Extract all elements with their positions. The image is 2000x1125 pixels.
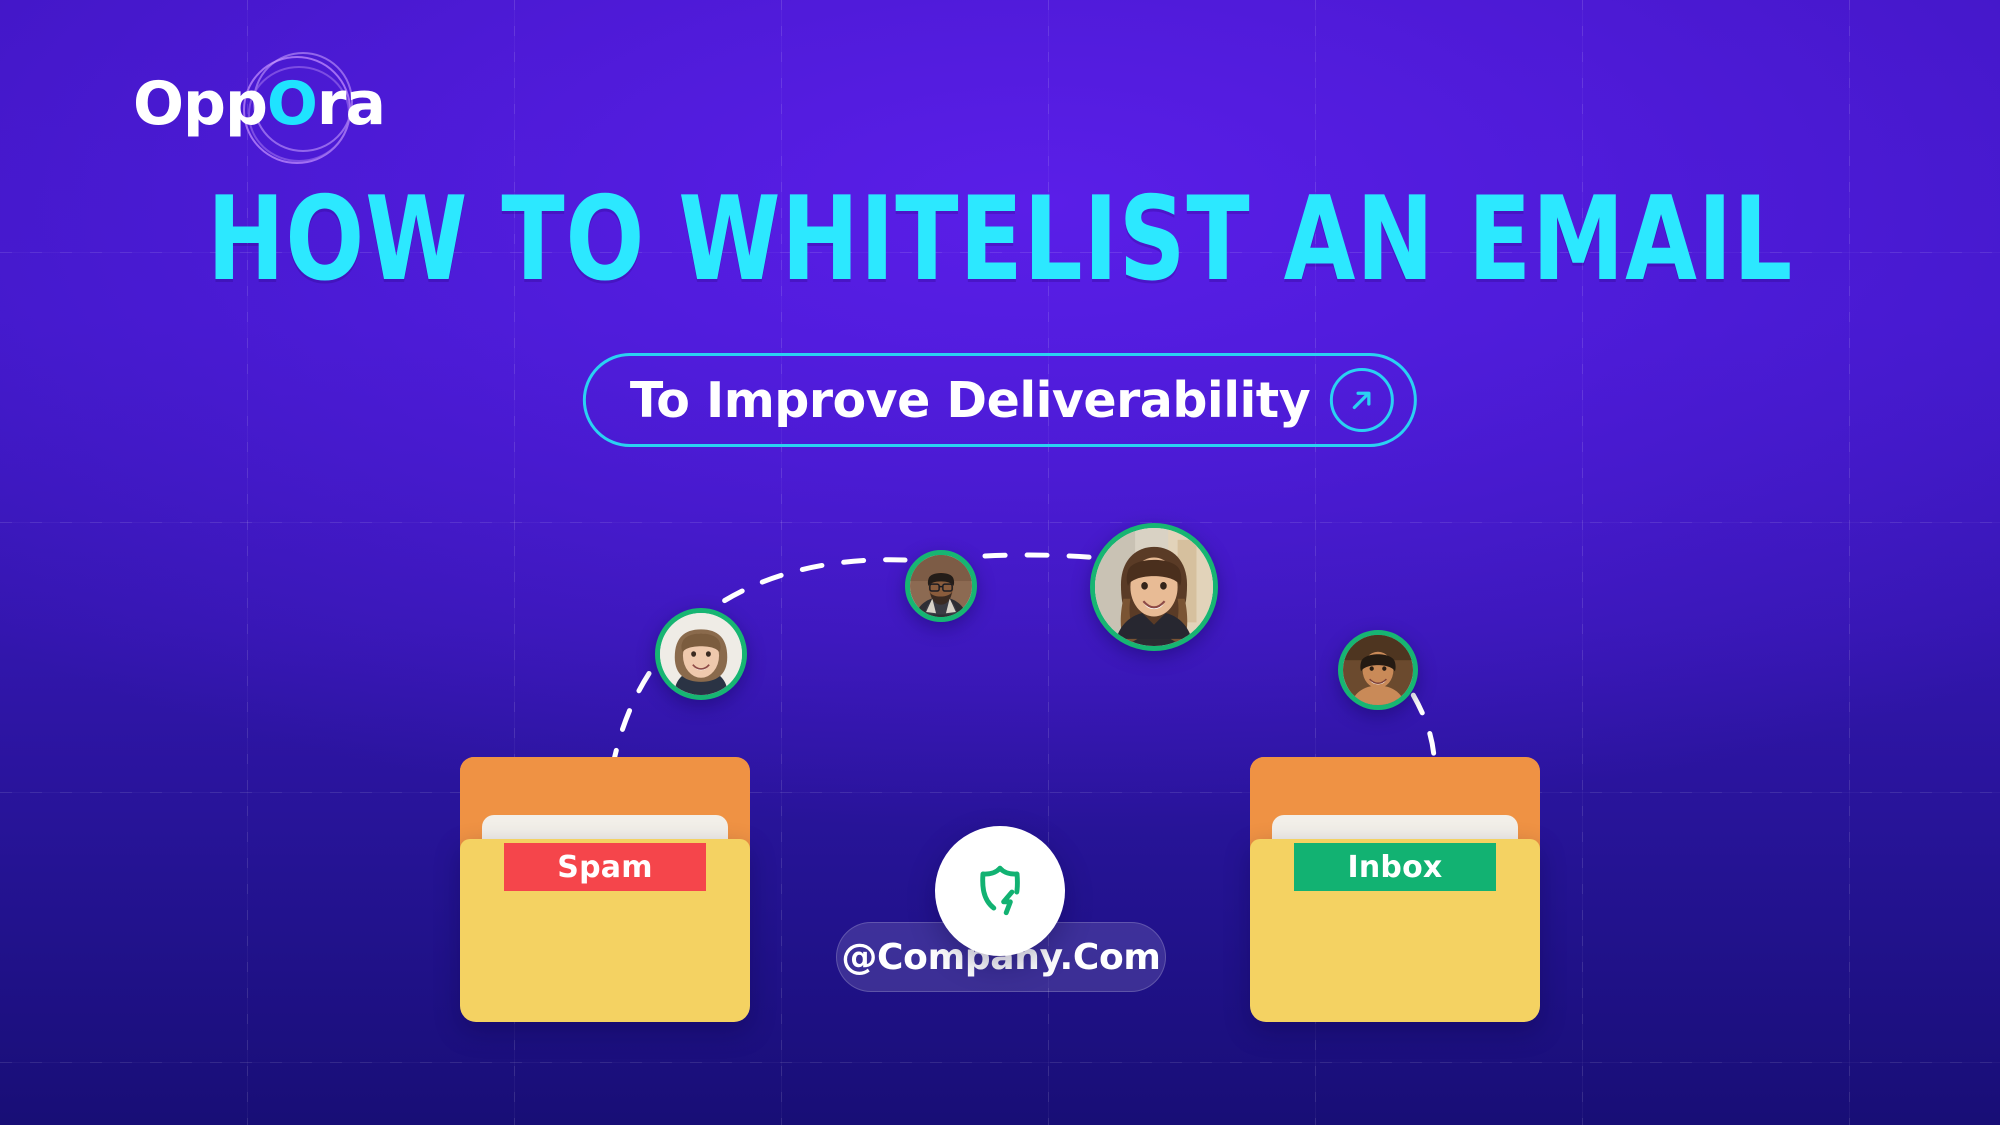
avatar-person-1[interactable] xyxy=(655,608,747,700)
illustration-scene: Spam Inbox @Company.Com xyxy=(0,0,2000,1125)
shield-bolt-icon xyxy=(969,860,1031,922)
folder-label-spam: Spam xyxy=(504,843,706,891)
avatar-image-3 xyxy=(1095,528,1213,646)
avatar-person-3[interactable] xyxy=(1090,523,1218,651)
avatar-image-4 xyxy=(1343,635,1413,705)
folder-notch xyxy=(1368,757,1408,791)
avatar-image-2 xyxy=(910,555,972,617)
avatar-person-2[interactable] xyxy=(905,550,977,622)
folder-notch xyxy=(578,757,618,791)
folder-label-inbox: Inbox xyxy=(1294,843,1496,891)
shield-badge[interactable] xyxy=(935,826,1065,956)
folder-spam[interactable]: Spam xyxy=(460,757,750,1022)
poster-canvas: OppOra HOW TO WHITELIST AN EMAIL To Impr… xyxy=(0,0,2000,1125)
folder-inbox[interactable]: Inbox xyxy=(1250,757,1540,1022)
avatar-image-1 xyxy=(660,613,742,695)
avatar-person-4[interactable] xyxy=(1338,630,1418,710)
